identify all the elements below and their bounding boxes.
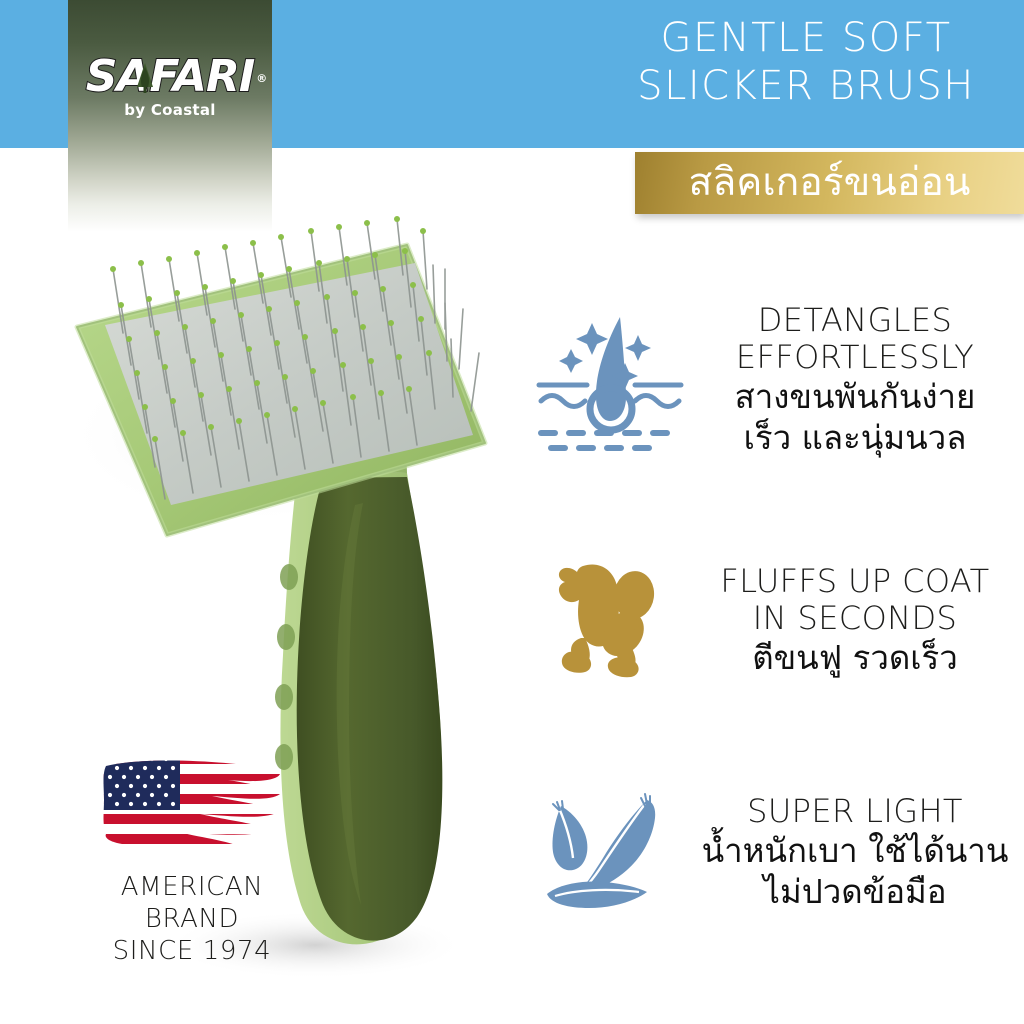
feature-th-line-1: น้ำหนักเบา ใช้ได้นาน <box>692 830 1018 871</box>
feature-en-line-1: DETANGLES <box>692 302 1018 339</box>
badge-line-1: AMERICAN <box>62 871 322 903</box>
usa-flag-icon <box>100 752 285 857</box>
product-marketing-image: GENTLE SOFT SLICKER BRUSH SAFARI ® by Co… <box>0 0 1024 1024</box>
feature-item-superlight: SUPER LIGHT น้ำหนักเบา ใช้ได้นาน ไม่ปวดข… <box>527 765 1024 940</box>
hair-follicle-icon <box>527 305 692 455</box>
feature-en-line-2: EFFORTLESSLY <box>692 339 1018 376</box>
feature-th-line-2: ไม่ปวดข้อมือ <box>692 871 1018 912</box>
brand-logo-wordmark: SAFARI ® <box>86 55 254 99</box>
feature-text-fluffs: FLUFFS UP COAT IN SECONDS ตีขนฟู รวดเร็ว <box>692 563 1024 678</box>
feature-en-line-2: IN SECONDS <box>692 600 1018 637</box>
brand-logo: SAFARI ® by Coastal <box>68 55 272 119</box>
feature-th-line-1: ตีขนฟู รวดเร็ว <box>692 637 1018 678</box>
feature-en-line-1: SUPER LIGHT <box>692 793 1018 830</box>
badge-line-3: SINCE 1974 <box>62 935 322 967</box>
feature-th-line-1: สางขนพันกันง่าย <box>692 376 1018 417</box>
thai-title-banner: สลิคเกอร์ขนอ่อน <box>635 152 1024 214</box>
feature-en-line-1: FLUFFS UP COAT <box>692 563 1018 600</box>
feature-item-detangles: DETANGLES EFFORTLESSLY สางขนพันกันง่าย เ… <box>527 280 1024 480</box>
registered-trademark-icon: ® <box>256 57 266 101</box>
american-brand-text: AMERICAN BRAND SINCE 1974 <box>62 871 322 967</box>
page-title: GENTLE SOFT SLICKER BRUSH <box>604 14 1008 110</box>
badge-line-2: BRAND <box>62 903 322 935</box>
feature-text-detangles: DETANGLES EFFORTLESSLY สางขนพันกันง่าย เ… <box>692 302 1024 458</box>
feature-th-line-2: เร็ว และนุ่มนวล <box>692 417 1018 458</box>
title-line-2: SLICKER BRUSH <box>604 62 1008 110</box>
feature-item-fluffs: FLUFFS UP COAT IN SECONDS ตีขนฟู รวดเร็ว <box>527 535 1024 705</box>
feature-text-superlight: SUPER LIGHT น้ำหนักเบา ใช้ได้นาน ไม่ปวดข… <box>692 793 1024 912</box>
brand-name-text: SAFARI <box>86 51 254 102</box>
brand-logo-subtitle: by Coastal <box>68 101 272 119</box>
poodle-icon <box>527 560 692 680</box>
feature-list: DETANGLES EFFORTLESSLY สางขนพันกันง่าย เ… <box>527 255 1024 995</box>
feather-icon <box>527 788 692 918</box>
american-brand-badge: AMERICAN BRAND SINCE 1974 <box>62 752 322 967</box>
title-line-1: GENTLE SOFT <box>604 14 1008 62</box>
brand-logo-panel: SAFARI ® by Coastal <box>68 0 272 232</box>
thai-title-text: สลิคเกอร์ขนอ่อน <box>689 158 971 208</box>
